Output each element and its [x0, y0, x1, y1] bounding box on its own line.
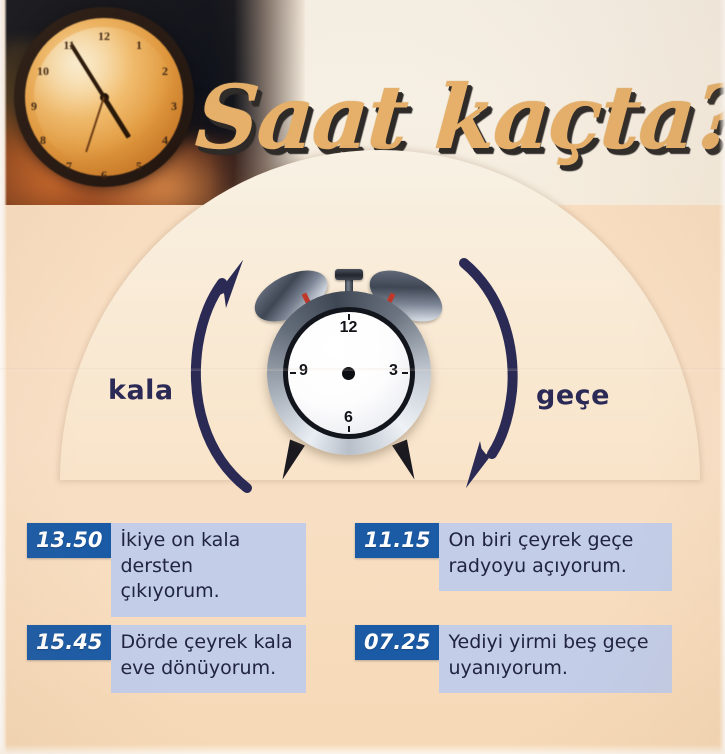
- photo-clock-numeral-4: 4: [157, 132, 173, 148]
- time-badge: 15.45: [27, 625, 111, 660]
- counterclockwise-arrow-left: [196, 260, 247, 488]
- photo-clock-numeral-8: 8: [35, 132, 51, 148]
- alarm-foot-right: [392, 439, 422, 482]
- time-badge: 07.25: [355, 625, 439, 660]
- photo-clock-numeral-11: 11: [61, 37, 77, 53]
- alarm-foot-left: [275, 439, 305, 482]
- label-gece: geçe: [536, 380, 610, 411]
- clock-numeral-12: 12: [335, 319, 363, 337]
- alarm-clock-bezel: 12 3 6 9: [283, 307, 415, 439]
- photo-clock-numeral-6: 6: [96, 167, 112, 183]
- photo-clock-numeral-10: 10: [35, 63, 51, 79]
- time-badge: 13.50: [27, 523, 111, 558]
- example-sentences: 13.50 İkiye on kala dersten çıkıyorum. 1…: [0, 505, 725, 754]
- photo-clock-numeral-2: 2: [157, 63, 173, 79]
- clock-numeral-9: 9: [294, 362, 314, 380]
- sentence-text: On biri çeyrek geçe radyoyu açıyorum.: [439, 523, 672, 591]
- clock-numeral-3: 3: [384, 362, 404, 380]
- photo-clock-numeral-9: 9: [26, 98, 42, 114]
- paper-fold-line: [0, 368, 725, 371]
- label-kala: kala: [108, 375, 174, 406]
- sentence-text: Yediyi yirmi beş geçe uyanıyorum.: [439, 625, 672, 693]
- clock-numeral-6: 6: [335, 409, 363, 427]
- photo-clock-numeral-7: 7: [61, 158, 77, 174]
- photo-clock-numeral-3: 3: [166, 98, 182, 114]
- sentence-card: 11.15 On biri çeyrek geçe radyoyu açıyor…: [355, 523, 672, 591]
- photo-clock-numeral-5: 5: [131, 158, 147, 174]
- photo-clock-numeral-1: 1: [131, 37, 147, 53]
- alarm-knob: [335, 269, 363, 280]
- photo-clock-numeral-12: 12: [96, 28, 112, 44]
- alarm-clock-face: 12 3 6 9: [288, 312, 410, 434]
- alarm-clock-case: 12 3 6 9: [267, 291, 431, 455]
- sentence-card: 13.50 İkiye on kala dersten çıkıyorum.: [27, 523, 306, 617]
- clock-diagram: 12 3 6 9 kala geçe: [0, 205, 725, 505]
- sentence-card: 15.45 Dörde çeyrek kala eve dönüyorum.: [27, 625, 306, 693]
- page-title: Saat kaçta?: [193, 73, 725, 161]
- alarm-clock: 12 3 6 9: [256, 267, 441, 477]
- sentence-text: Dörde çeyrek kala eve dönüyorum.: [111, 625, 306, 693]
- time-badge: 11.15: [355, 523, 439, 558]
- sentence-card: 07.25 Yediyi yirmi beş geçe uyanıyorum.: [355, 625, 672, 693]
- worksheet-page: 12 1 2 3 4 5 6 7 8 9 10 11 Saat kaçta?: [0, 0, 725, 754]
- clockwise-arrow-right: [464, 263, 513, 488]
- photo-wall-clock: 12 1 2 3 4 5 6 7 8 9 10 11: [25, 18, 183, 176]
- sentence-text: İkiye on kala dersten çıkıyorum.: [111, 523, 306, 617]
